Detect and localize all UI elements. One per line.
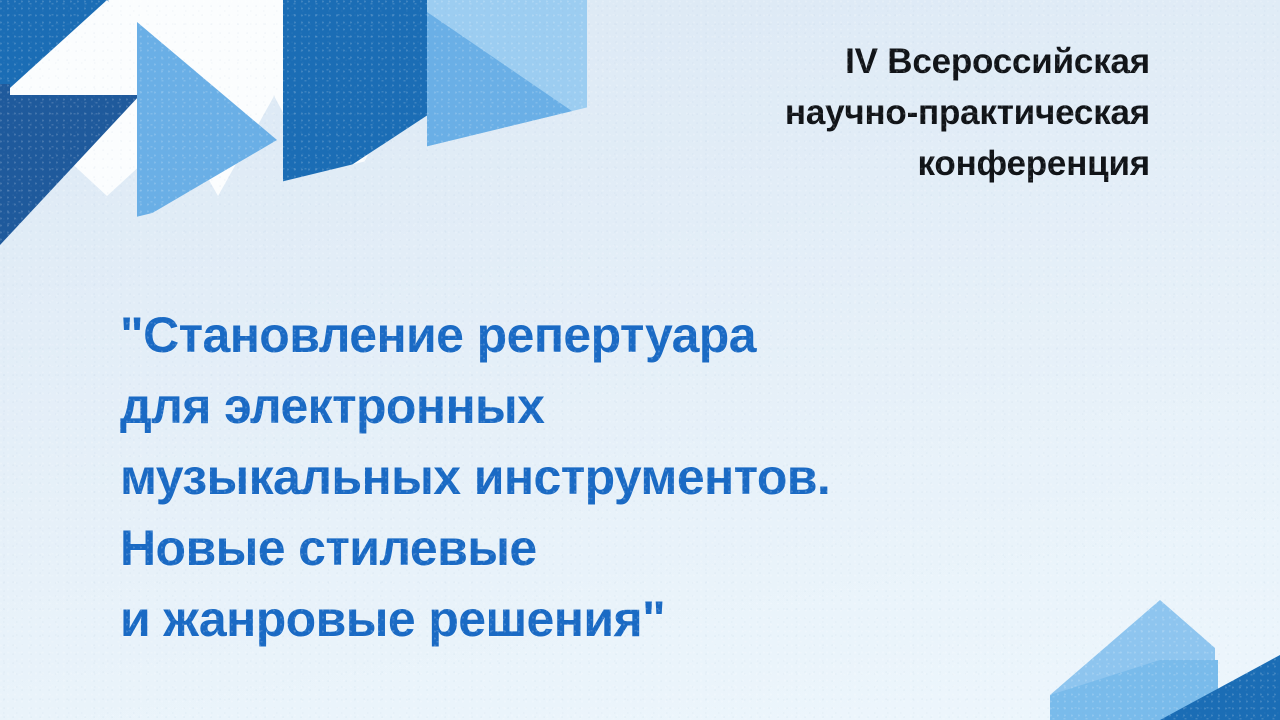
conference-header: IV Всероссийская научно-практическая кон…: [610, 36, 1150, 189]
navy-edge-sliver-left: [0, 84, 10, 202]
header-line-1: IV Всероссийская: [610, 36, 1150, 87]
navy-triangle-center: [283, 0, 443, 210]
page-title: "Становление репертуара для электронных …: [120, 300, 1200, 655]
header-line-2: научно-практическая: [610, 87, 1150, 138]
title-line-1: "Становление репертуара: [120, 300, 1200, 371]
title-line-3: музыкальных инструментов.: [120, 442, 1200, 513]
title-line-2: для электронных: [120, 371, 1200, 442]
triangle-mosaic-band: [0, 0, 700, 270]
header-line-3: конференция: [610, 138, 1150, 189]
conference-poster: IV Всероссийская научно-практическая кон…: [0, 0, 1280, 720]
title-line-4: Новые стилевые: [120, 513, 1200, 584]
title-line-5: и жанровые решения": [120, 584, 1200, 655]
